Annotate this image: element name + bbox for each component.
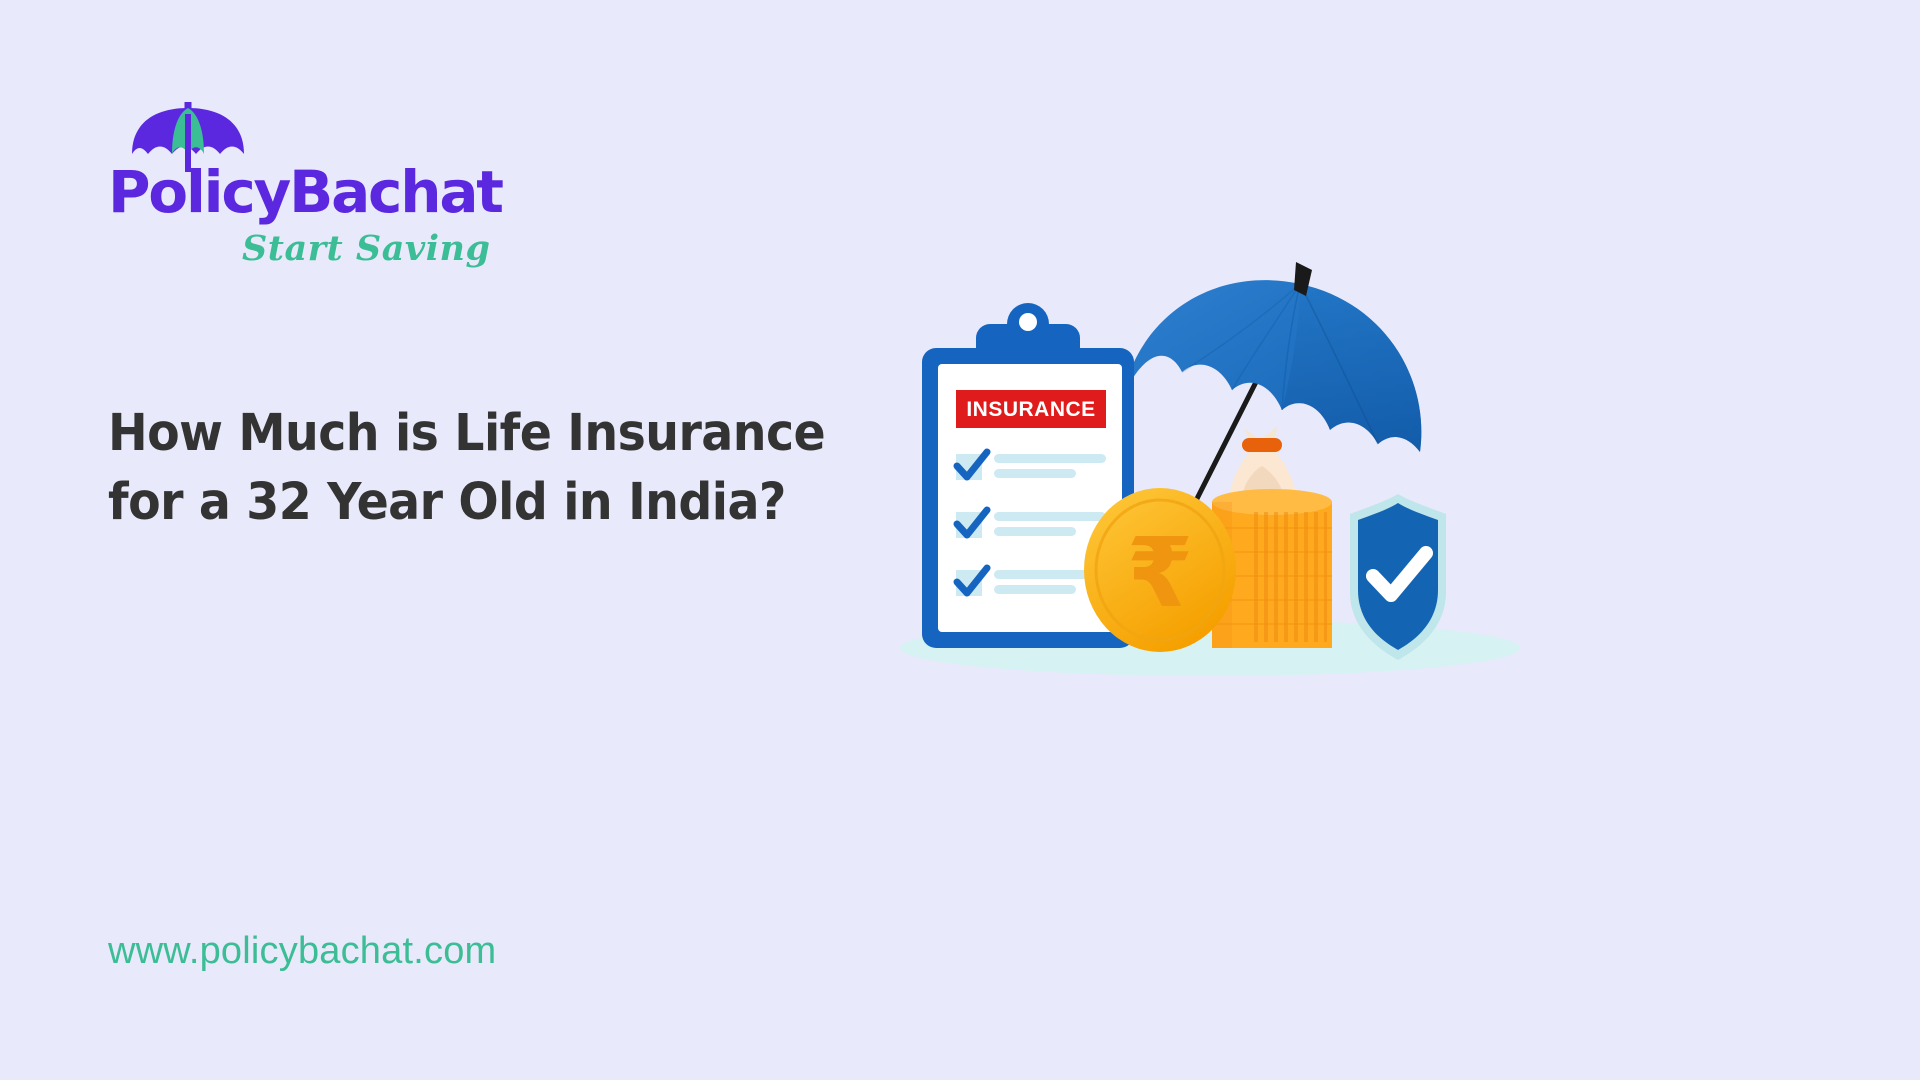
headline-line-1: How Much is Life Insurance [108,400,852,469]
website-url[interactable]: www.policybachat.com [108,930,496,973]
insurance-banner-label: INSURANCE [966,398,1095,421]
rupee-symbol: ₹ [1127,517,1194,629]
headline-line-2: for a 32 Year Old in India? [108,469,852,538]
insurance-illustration: INSURANCE [860,240,1540,700]
logo-wordmark: PolicyBachat [108,158,502,226]
page-title: How Much is Life Insurance for a 32 Year… [108,400,908,538]
logo-tagline: Start Saving [242,228,490,269]
rupee-coin-illustration: ₹ [1084,488,1236,652]
